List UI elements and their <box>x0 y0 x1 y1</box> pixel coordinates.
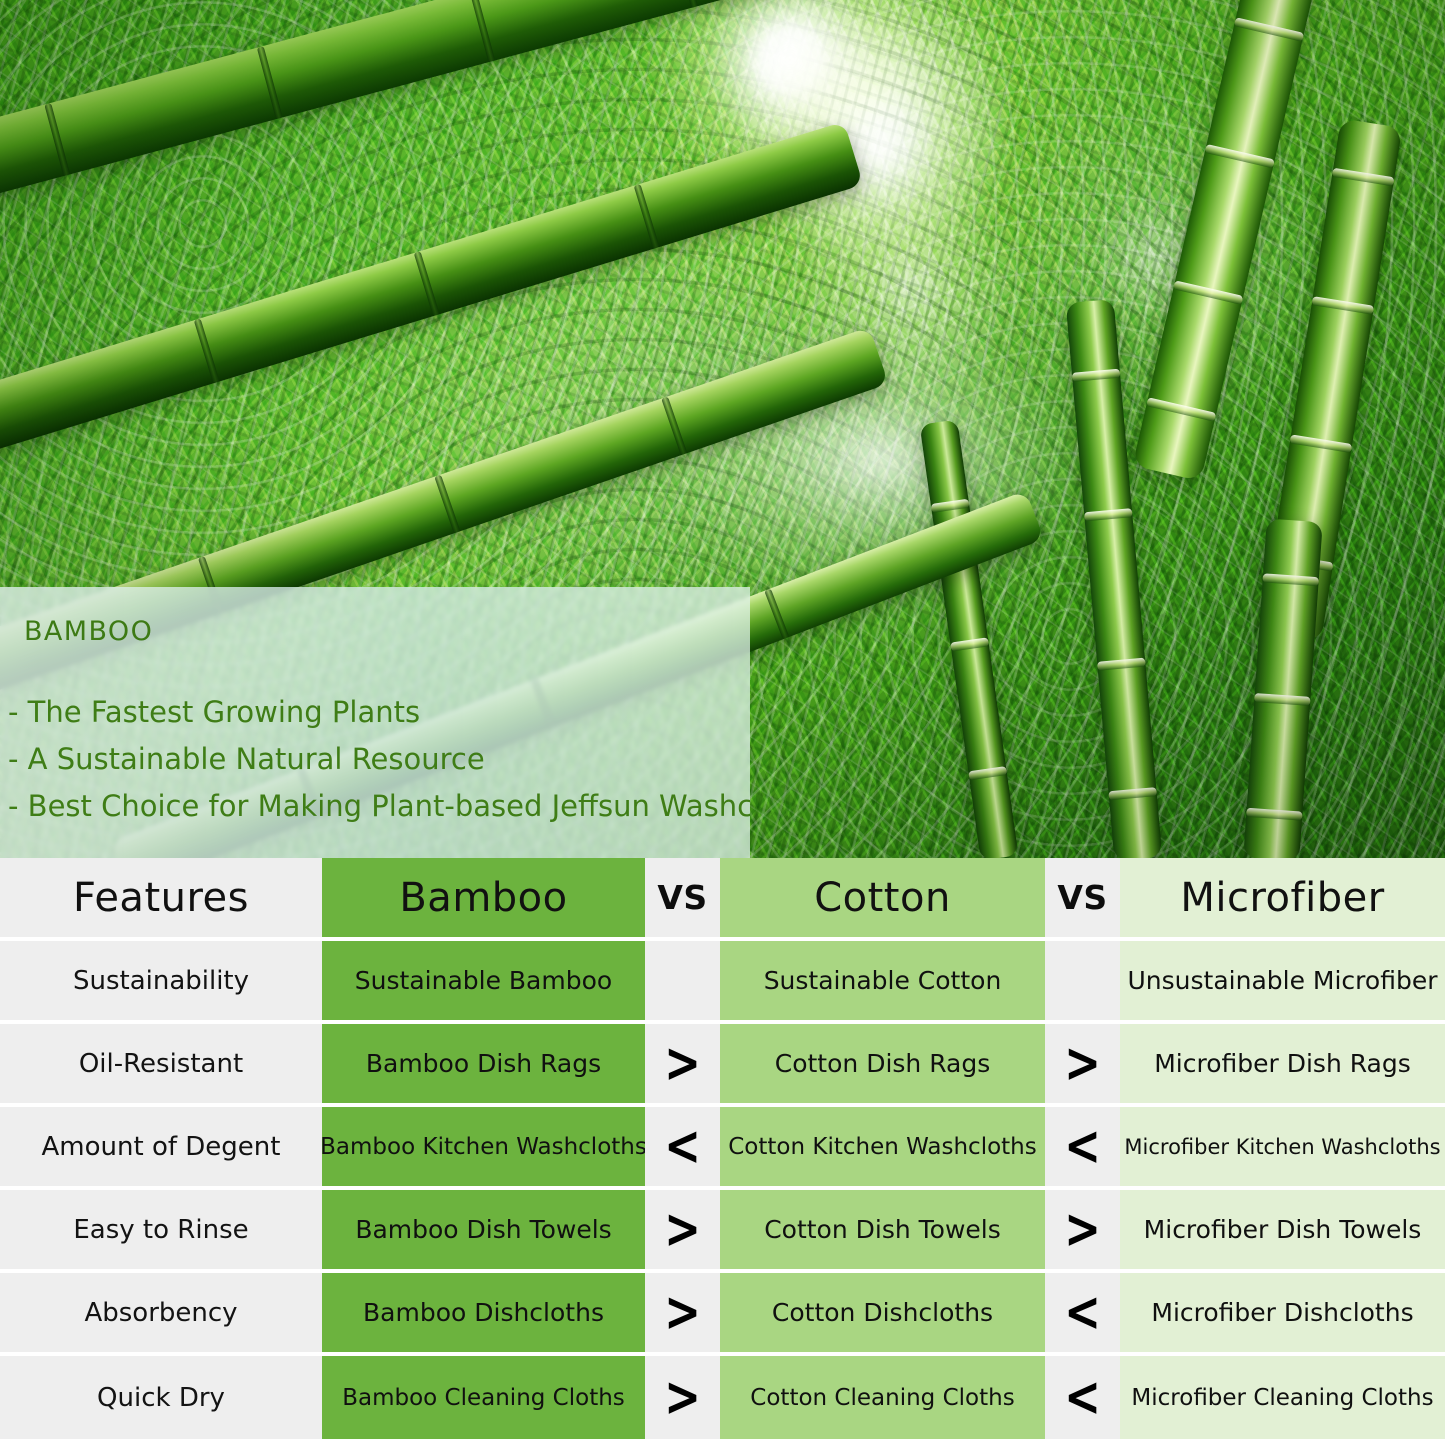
bamboo-value: Bamboo Kitchen Washcloths <box>316 1134 651 1160</box>
bamboo-value: Bamboo Dish Towels <box>351 1215 615 1244</box>
row-cotton-cell: Cotton Kitchen Washcloths <box>720 1107 1045 1186</box>
table-row: Amount of Degent Bamboo Kitchen Washclot… <box>0 1107 1445 1186</box>
header-cell-vs-2: VS <box>1045 858 1120 937</box>
row-comparator-1: > <box>645 1356 720 1439</box>
row-comparator-2: < <box>1045 1107 1120 1186</box>
comparator-symbol-1: > <box>664 1036 701 1091</box>
comparator-symbol-2: < <box>1064 1370 1101 1425</box>
row-comparator-2: > <box>1045 1024 1120 1103</box>
row-microfiber-cell: Microfiber Dish Rags <box>1120 1024 1445 1103</box>
table-row: Easy to Rinse Bamboo Dish Towels > Cotto… <box>0 1190 1445 1269</box>
row-feature-cell: Absorbency <box>0 1273 322 1352</box>
bamboo-value: Bamboo Dish Rags <box>362 1049 605 1078</box>
header-cell-microfiber: Microfiber <box>1120 858 1445 937</box>
overlay-bullet-3: - Best Choice for Making Plant-based Jef… <box>8 789 750 823</box>
row-microfiber-cell: Microfiber Dish Towels <box>1120 1190 1445 1269</box>
row-microfiber-cell: Microfiber Dishcloths <box>1120 1273 1445 1352</box>
row-cotton-cell: Cotton Dish Towels <box>720 1190 1045 1269</box>
comparator-symbol-1: > <box>664 1285 701 1340</box>
row-comparator-2: < <box>1045 1273 1120 1352</box>
header-cell-vs-1: VS <box>645 858 720 937</box>
microfiber-value: Microfiber Dishcloths <box>1147 1298 1417 1327</box>
header-cell-bamboo: Bamboo <box>322 858 645 937</box>
microfiber-value: Microfiber Dish Towels <box>1140 1215 1426 1244</box>
cotton-value: Cotton Dishcloths <box>768 1298 997 1327</box>
header-label-bamboo: Bamboo <box>399 875 567 921</box>
row-comparator-2: > <box>1045 1190 1120 1269</box>
row-cotton-cell: Cotton Dish Rags <box>720 1024 1045 1103</box>
row-bamboo-cell: Bamboo Dish Rags <box>322 1024 645 1103</box>
row-feature-cell: Sustainability <box>0 941 322 1020</box>
microfiber-value: Microfiber Dish Rags <box>1150 1049 1415 1078</box>
row-feature-cell: Amount of Degent <box>0 1107 322 1186</box>
table-header-row: Features Bamboo VS Cotton VS Microfiber <box>0 858 1445 937</box>
overlay-bullet-1: - The Fastest Growing Plants <box>8 695 420 729</box>
cotton-value: Cotton Cleaning Cloths <box>746 1385 1018 1411</box>
microfiber-value: Unsustainable Microfiber <box>1124 966 1442 995</box>
header-label-microfiber: Microfiber <box>1180 875 1384 921</box>
row-comparator-1: > <box>645 1190 720 1269</box>
overlay-title: BAMBOO <box>24 616 153 647</box>
cotton-value: Cotton Dish Rags <box>771 1049 995 1078</box>
overlay-bullet-2: - A Sustainable Natural Resource <box>8 742 485 776</box>
feature-label: Sustainability <box>73 966 249 996</box>
row-feature-cell: Quick Dry <box>0 1356 322 1439</box>
comparator-symbol-1: > <box>664 1370 701 1425</box>
header-label-cotton: Cotton <box>814 875 951 921</box>
header-cell-cotton: Cotton <box>720 858 1045 937</box>
row-bamboo-cell: Bamboo Dish Towels <box>322 1190 645 1269</box>
comparison-table: Features Bamboo VS Cotton VS Microfiber … <box>0 858 1445 1445</box>
cotton-value: Sustainable Cotton <box>760 966 1006 995</box>
row-comparator-2 <box>1045 941 1120 1020</box>
row-cotton-cell: Cotton Cleaning Cloths <box>720 1356 1045 1439</box>
row-bamboo-cell: Bamboo Dishcloths <box>322 1273 645 1352</box>
row-cotton-cell: Sustainable Cotton <box>720 941 1045 1020</box>
row-comparator-1: > <box>645 1024 720 1103</box>
row-comparator-1 <box>645 941 720 1020</box>
row-comparator-2: < <box>1045 1356 1120 1439</box>
comparator-symbol-2: > <box>1064 1036 1101 1091</box>
feature-label: Amount of Degent <box>42 1132 281 1162</box>
row-feature-cell: Oil-Resistant <box>0 1024 322 1103</box>
row-comparator-1: < <box>645 1107 720 1186</box>
comparator-symbol-2: > <box>1064 1202 1101 1257</box>
bamboo-value: Sustainable Bamboo <box>351 966 616 995</box>
product-comparison-infographic: BAMBOO - The Fastest Growing Plants - A … <box>0 0 1445 1445</box>
row-microfiber-cell: Microfiber Cleaning Cloths <box>1120 1356 1445 1439</box>
comparator-symbol-2: < <box>1064 1285 1101 1340</box>
table-row: Absorbency Bamboo Dishcloths > Cotton Di… <box>0 1273 1445 1352</box>
bamboo-value: Bamboo Cleaning Cloths <box>338 1385 629 1411</box>
cotton-value: Cotton Kitchen Washcloths <box>724 1134 1041 1160</box>
row-cotton-cell: Cotton Dishcloths <box>720 1273 1045 1352</box>
bamboo-benefits-overlay-panel: BAMBOO - The Fastest Growing Plants - A … <box>0 587 750 860</box>
header-label-vs-1: VS <box>657 878 707 917</box>
table-row: Sustainability Sustainable Bamboo Sustai… <box>0 941 1445 1020</box>
row-microfiber-cell: Microfiber Kitchen Washcloths <box>1120 1107 1445 1186</box>
microfiber-value: Microfiber Cleaning Cloths <box>1127 1385 1437 1411</box>
comparator-symbol-1: < <box>664 1119 701 1174</box>
cotton-value: Cotton Dish Towels <box>760 1215 1005 1244</box>
feature-label: Oil-Resistant <box>79 1049 243 1079</box>
row-comparator-1: > <box>645 1273 720 1352</box>
row-feature-cell: Easy to Rinse <box>0 1190 322 1269</box>
comparator-symbol-2: < <box>1064 1119 1101 1174</box>
comparator-symbol-1: > <box>664 1202 701 1257</box>
feature-label: Quick Dry <box>97 1383 225 1413</box>
feature-label: Absorbency <box>84 1298 237 1328</box>
header-label-features: Features <box>73 875 249 921</box>
bamboo-value: Bamboo Dishcloths <box>359 1298 608 1327</box>
table-row: Quick Dry Bamboo Cleaning Cloths > Cotto… <box>0 1356 1445 1439</box>
table-row: Oil-Resistant Bamboo Dish Rags > Cotton … <box>0 1024 1445 1103</box>
microfiber-value: Microfiber Kitchen Washcloths <box>1120 1135 1444 1159</box>
row-bamboo-cell: Sustainable Bamboo <box>322 941 645 1020</box>
header-label-vs-2: VS <box>1057 878 1107 917</box>
row-bamboo-cell: Bamboo Kitchen Washcloths <box>322 1107 645 1186</box>
row-bamboo-cell: Bamboo Cleaning Cloths <box>322 1356 645 1439</box>
header-cell-features: Features <box>0 858 322 937</box>
feature-label: Easy to Rinse <box>73 1215 248 1245</box>
row-microfiber-cell: Unsustainable Microfiber <box>1120 941 1445 1020</box>
